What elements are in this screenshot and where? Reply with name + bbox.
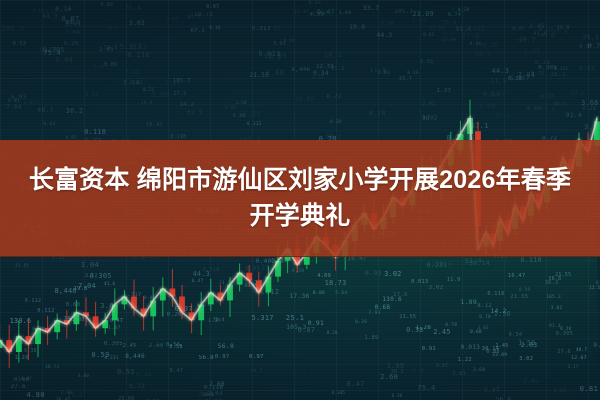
headline-band: 长富资本 绵阳市游仙区刘家小学开展2026年春季开学典礼 <box>0 140 600 257</box>
band-bottom-edge <box>0 256 600 257</box>
page-title: 长富资本 绵阳市游仙区刘家小学开展2026年春季开学典礼 <box>20 163 580 234</box>
thumbnail-image: 2.608,44625.16.4736.20.930.11814.2105.37… <box>0 0 600 400</box>
